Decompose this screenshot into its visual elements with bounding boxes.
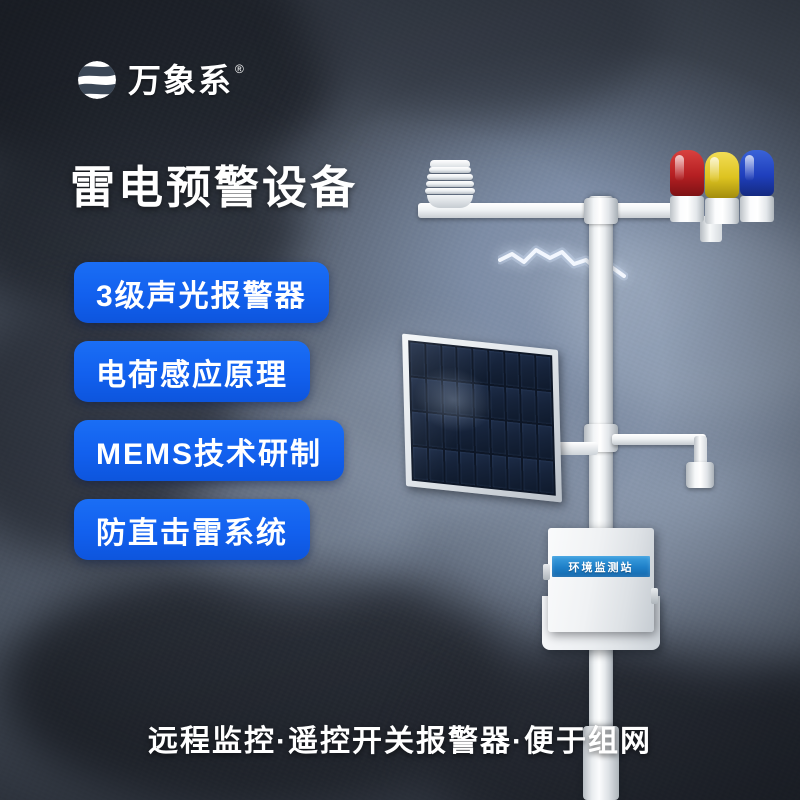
solar-cell <box>489 351 504 385</box>
solar-cell <box>459 417 474 451</box>
solar-cell <box>427 379 442 413</box>
solar-cell <box>490 385 505 419</box>
solar-cell <box>444 450 459 484</box>
solar-cell <box>428 413 443 447</box>
blue-alarm-beacon <box>740 150 774 222</box>
solar-cell <box>522 423 537 457</box>
solar-cell <box>426 344 441 378</box>
enclosure-latch <box>543 564 550 580</box>
solar-cell <box>539 460 554 494</box>
monitoring-enclosure <box>548 528 654 632</box>
solar-cell <box>458 347 473 381</box>
solar-cell <box>491 420 506 454</box>
enclosure-label: 环境监测站 <box>552 556 650 577</box>
sensor-arm <box>612 434 706 445</box>
solar-cell <box>505 352 520 386</box>
tagline: 远程监控·遥控开关报警器·便于组网 <box>0 716 800 760</box>
solar-cell <box>460 451 475 485</box>
solar-cell <box>537 390 552 424</box>
solar-cell <box>443 380 458 414</box>
solar-panel <box>402 334 562 503</box>
solar-cell <box>522 389 537 423</box>
brand-name: 万象系 <box>128 64 233 97</box>
solar-cell <box>442 346 457 380</box>
solar-cell <box>536 356 551 390</box>
feature-pill: 电荷感应原理 <box>74 341 310 402</box>
solar-cell <box>508 456 523 490</box>
page-title: 雷电预警设备 <box>70 165 358 210</box>
solar-cell <box>411 377 426 411</box>
red-alarm-beacon <box>670 150 704 222</box>
feature-list: 3级声光报警器电荷感应原理MEMS技术研制防直击雷系统 <box>74 262 344 560</box>
feature-pill: 防直击雷系统 <box>74 499 310 560</box>
solar-panel-arm <box>556 442 598 455</box>
enclosure-label-text: 环境监测站 <box>569 559 634 575</box>
solar-cell <box>538 425 553 459</box>
solar-cell <box>476 453 491 487</box>
solar-cell <box>506 387 521 421</box>
solar-cell <box>429 448 444 482</box>
solar-cell <box>444 415 459 449</box>
enclosure-latch <box>651 588 658 604</box>
solar-cell <box>492 455 507 489</box>
feature-pill: MEMS技术研制 <box>74 420 344 481</box>
solar-cell <box>521 354 536 388</box>
globe-swoosh-logo-icon <box>75 58 119 102</box>
solar-cell <box>523 458 538 492</box>
solar-cell <box>458 382 473 416</box>
pole-collar <box>584 198 618 224</box>
brand-logo: 万象系 ® <box>75 58 244 102</box>
mast-pole <box>589 196 613 736</box>
yellow-alarm-beacon <box>705 152 739 224</box>
promo-banner: 环境监测站 万象系 ® 雷电预警设备 3级声光报警器电荷感应原理MEMS技术研制… <box>0 0 800 800</box>
registered-mark: ® <box>235 62 244 76</box>
solar-cell <box>474 384 489 418</box>
solar-cell <box>410 342 425 376</box>
solar-cell <box>507 422 522 456</box>
solar-cell <box>475 418 490 452</box>
arm-sensor-head <box>686 462 714 488</box>
solar-cell <box>412 412 427 446</box>
radiation-shield-sensor <box>424 160 476 208</box>
feature-pill: 3级声光报警器 <box>74 262 329 323</box>
solar-cell <box>473 349 488 383</box>
solar-cell <box>413 446 428 480</box>
